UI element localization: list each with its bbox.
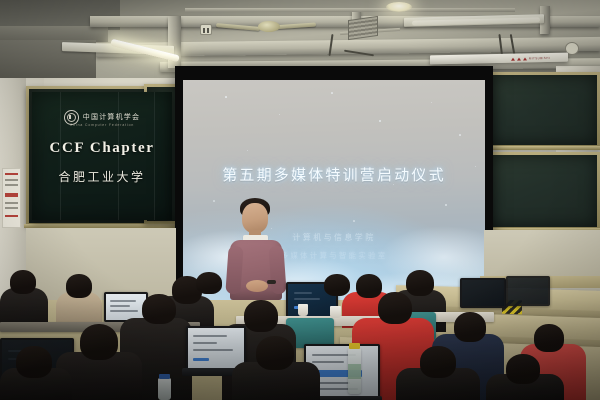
chalkboard-ledge-right-upper <box>482 146 600 150</box>
audience-head-b3 <box>142 294 176 324</box>
speaker-head <box>242 203 268 233</box>
ceiling-socket <box>200 24 212 35</box>
audience-head-b5 <box>534 324 564 352</box>
water-bottle-3 <box>158 378 171 400</box>
ceiling-fan-icon <box>258 21 280 32</box>
speaker-hands <box>246 280 268 292</box>
monitor-back-4 <box>506 276 550 306</box>
speaker-arm-right <box>268 246 286 295</box>
lecture-hall-photo: 中国计算机学会 China Computer Federation CCF Ch… <box>0 0 600 400</box>
audience-head-c5 <box>10 270 36 294</box>
ceiling-vent <box>348 16 378 40</box>
monitor-front-1 <box>186 326 246 370</box>
paper-cup-2 <box>330 306 341 318</box>
screen-brand-text: MITSUBISHI <box>529 56 550 60</box>
audience-head-a6 <box>196 272 222 294</box>
audience-head-a7 <box>324 274 350 296</box>
wall-notice <box>2 168 21 228</box>
ceiling-pipe <box>185 8 515 12</box>
stage-wall-right <box>484 230 600 282</box>
stage-wall-left <box>26 228 176 302</box>
audience-head-a5 <box>506 354 540 384</box>
bottle-label-2 <box>348 364 361 379</box>
presentation-title: 第五期多媒体特训营启动仪式 <box>183 164 485 185</box>
bottle-cap-3 <box>159 374 170 379</box>
audience-head-a4 <box>420 346 456 378</box>
ccf-org-cn: 中国计算机学会 <box>83 112 140 122</box>
speaker-figure <box>222 198 292 300</box>
chalkboard-right-upper <box>484 72 600 148</box>
ccf-org-en: China Computer Federation <box>32 123 172 127</box>
audience-head-c4 <box>66 274 92 298</box>
chalkboard-right-lower <box>484 152 600 230</box>
bottle-cap-2 <box>349 343 360 349</box>
audience-head-c2 <box>356 274 382 298</box>
audience-head-b4 <box>454 312 486 342</box>
ccf-chapter-title: CCF Chapter <box>32 140 172 157</box>
audience-head-a3 <box>16 346 52 378</box>
paper-cup-1 <box>298 304 308 316</box>
speaker-wristband <box>267 280 276 284</box>
audience-head-b2 <box>244 300 278 332</box>
audience-head-a2 <box>256 336 294 370</box>
monitor-back-3 <box>460 278 506 308</box>
audience-head-c3 <box>406 270 434 296</box>
screen-brand-logo: MITSUBISHI <box>511 56 550 61</box>
audience-head-a1 <box>80 324 118 360</box>
ccf-banner: 中国计算机学会 China Computer Federation CCF Ch… <box>32 92 172 220</box>
ccf-university-name: 合肥工业大学 <box>32 168 172 185</box>
ceiling-lamp <box>386 2 412 12</box>
audience-head-b1 <box>378 292 412 324</box>
ccf-org-row: 中国计算机学会 <box>32 110 172 124</box>
